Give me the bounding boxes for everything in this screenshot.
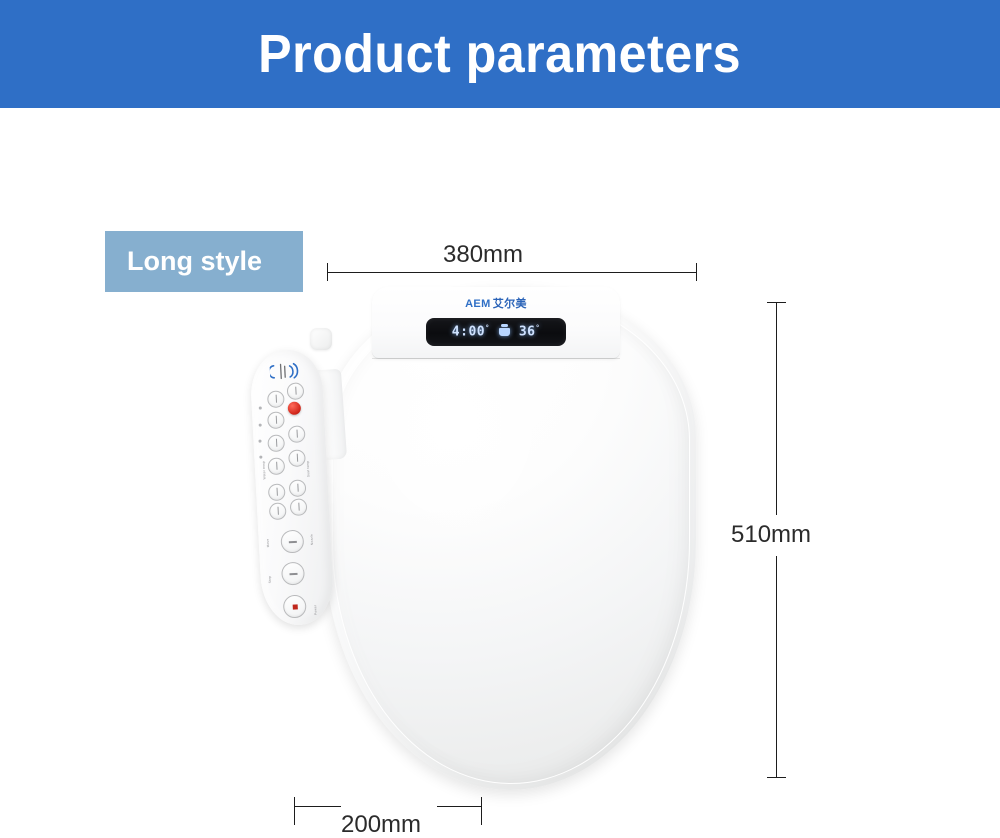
page-header-banner: Product parameters xyxy=(0,0,1000,108)
style-tag-label: Long style xyxy=(127,248,262,275)
hinge-nub xyxy=(310,328,332,350)
top-control-housing: AEM艾尔美 4:00° 36° xyxy=(372,287,620,359)
toilet-seat-lid xyxy=(324,287,696,790)
dimension-line-depth-left xyxy=(295,806,341,807)
display-temperature: 36° xyxy=(519,325,540,338)
button-dry[interactable] xyxy=(289,479,307,497)
button-water-temp-up[interactable] xyxy=(287,382,305,400)
seat-icon xyxy=(499,328,510,336)
dimension-line-depth-right xyxy=(437,806,482,807)
panel-label: Move xyxy=(267,539,271,548)
panel-label: Water temp xyxy=(263,461,267,480)
button-seat-temp-down[interactable] xyxy=(267,411,285,429)
led-display: 4:00° 36° xyxy=(426,318,566,346)
led-indicator xyxy=(258,440,261,443)
dimension-tick-width-right xyxy=(696,263,697,281)
button-move[interactable] xyxy=(269,502,287,520)
dimension-tick-height-top xyxy=(767,302,786,303)
button-dry-temp-down[interactable] xyxy=(267,434,285,452)
display-time: 4:00° xyxy=(452,325,490,338)
panel-label: Stop xyxy=(269,576,273,584)
dimension-line-height-upper xyxy=(776,302,777,515)
water-wave-icon xyxy=(269,361,300,381)
power-button[interactable] xyxy=(288,401,302,415)
side-control-panel: Water temp Seat temp Move Nozzle Stop Po… xyxy=(249,348,335,626)
panel-label: Seat temp xyxy=(307,461,311,477)
button-seat-temp-up[interactable] xyxy=(288,425,306,443)
button-nozzle-position[interactable] xyxy=(280,529,304,553)
panel-label: Nozzle xyxy=(310,534,314,545)
dimension-tick-depth-left xyxy=(294,797,295,825)
product-image: Water temp Seat temp Move Nozzle Stop Po… xyxy=(252,282,712,792)
button-massage[interactable] xyxy=(290,498,308,516)
panel-label: Power xyxy=(314,605,318,615)
dimension-tick-depth-right xyxy=(481,797,482,825)
button-stop[interactable] xyxy=(283,594,307,618)
dimension-label-width: 380mm xyxy=(443,243,523,267)
dimension-tick-width-left xyxy=(327,263,328,281)
button-dry-temp-up[interactable] xyxy=(288,449,306,467)
button-pressure-down[interactable] xyxy=(267,457,285,475)
dimension-tick-height-bottom xyxy=(767,777,786,778)
button-water-temp-down[interactable] xyxy=(267,390,285,408)
page-title: Product parameters xyxy=(259,27,742,81)
brand-logo-cn: 艾尔美 xyxy=(493,298,527,310)
brand-logo: AEM艾尔美 xyxy=(372,299,620,310)
led-indicator xyxy=(259,456,262,459)
brand-logo-text: AEM xyxy=(465,298,491,310)
dimension-line-width xyxy=(327,272,697,273)
button-seat-mode[interactable] xyxy=(281,561,305,585)
dimension-label-depth: 200mm xyxy=(341,813,421,837)
led-indicator xyxy=(259,406,262,409)
button-wash[interactable] xyxy=(268,483,286,501)
dimension-line-height-lower xyxy=(776,556,777,778)
dimension-label-height: 510mm xyxy=(731,523,811,547)
led-indicator xyxy=(259,424,262,427)
